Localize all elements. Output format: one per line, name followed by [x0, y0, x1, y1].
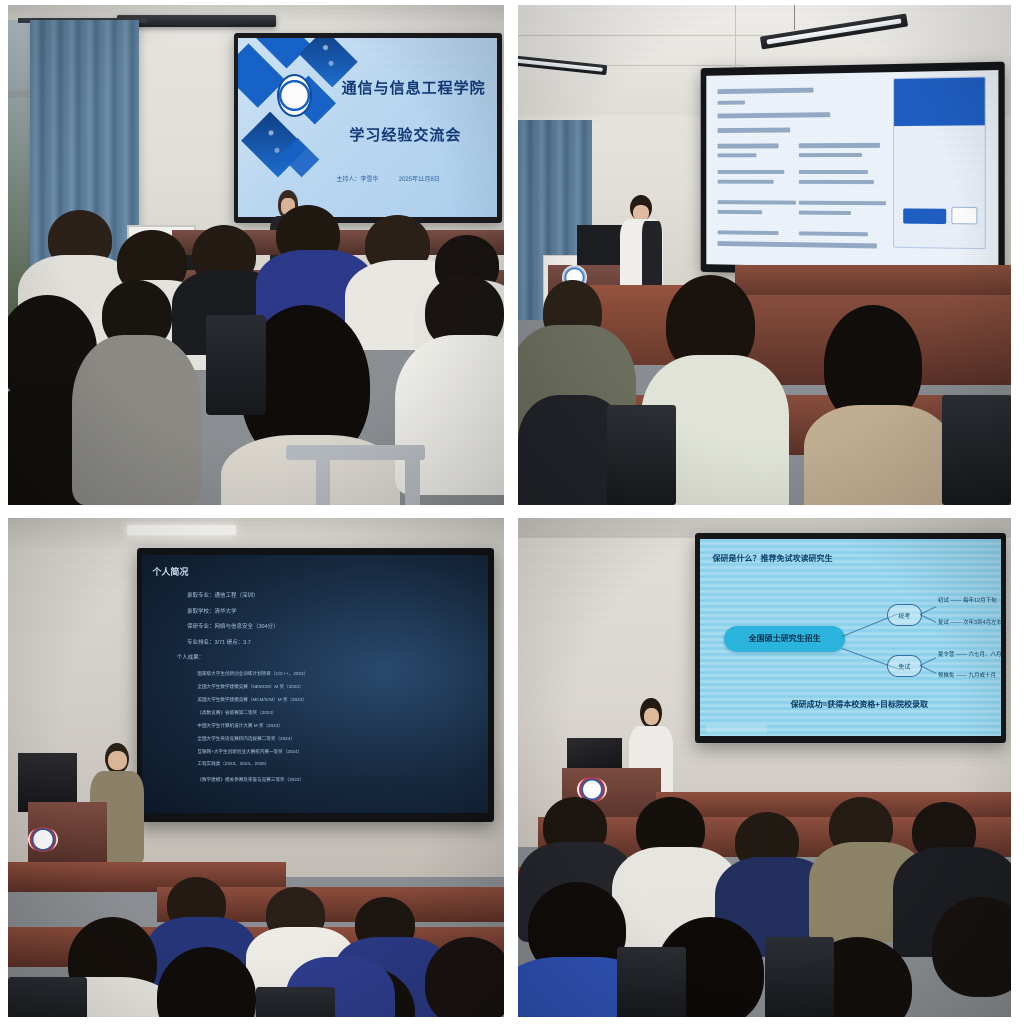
mindmap-branch-node: 统考	[887, 604, 922, 626]
chair-back	[256, 987, 335, 1017]
chair-back	[942, 395, 1011, 505]
mindmap-connector	[920, 665, 937, 674]
mindmap-leaf: 预推免 —— 九月或十月	[938, 671, 996, 679]
speaker-face	[108, 751, 127, 770]
projection-screen-frame	[701, 62, 1005, 279]
resume-row: 保研专业：网络与信息安全（304分）	[187, 622, 279, 630]
mindmap-leaf: 夏令营 —— 六七月、八月份	[938, 650, 1001, 658]
chair-frame	[316, 445, 331, 505]
resume-row: 全国大学生英语竞赛校内选拔赛二等奖（2024）	[197, 736, 295, 742]
chair-frame	[286, 445, 425, 460]
resume-row: 国家级大学生创新创业训练计划项目（C/C++，2023）	[197, 671, 308, 677]
slide-text-line	[799, 180, 874, 184]
chair-back	[765, 937, 834, 1017]
text-slide	[707, 70, 998, 269]
slide-title-line2: 学习经验交流会	[349, 124, 461, 145]
photo-top-right	[518, 5, 1011, 505]
photo-top-left: 通信与信息工程学院 学习经验交流会 主持人：李雪华 2025年11月8日	[8, 5, 504, 505]
photo-bottom-left: 个人简况 录取专业：通信工程（深圳） 录取学校：清华大学 保研专业：网络与信息安…	[8, 518, 504, 1017]
student-speaker	[617, 195, 666, 295]
slide-text-line	[718, 200, 797, 205]
slide-text-line	[799, 170, 868, 174]
projection-screen-frame: 保研是什么？推荐免试攻读研究生 全国硕士研究生招生 统考 免试 初试 —— 每年…	[695, 533, 1006, 743]
slide-text-line	[799, 201, 886, 206]
slide-text-line	[718, 241, 878, 248]
slide-text-line	[718, 153, 757, 157]
slide-dialog-screenshot	[893, 77, 986, 250]
slide-text-line	[799, 231, 868, 236]
slide-text-line	[718, 170, 785, 174]
slide-text-line	[718, 100, 746, 105]
speaker-face	[644, 708, 659, 726]
mindmap-connector	[920, 657, 937, 666]
audience-torso	[804, 405, 952, 505]
slide-text-line	[718, 112, 831, 118]
mindmap-connector	[920, 614, 937, 623]
slide-title-line1: 通信与信息工程学院	[342, 77, 486, 98]
resume-row: 录取专业：通信工程（深圳）	[187, 591, 259, 599]
resume-row: 美国大学生数学建模竞赛（MCM/ICM）M 奖（2024）	[197, 697, 307, 703]
mindmap-leaf: 复试 —— 次年3到4月左右	[938, 618, 1001, 626]
slide-text-line	[718, 87, 814, 94]
slide-taskbar	[706, 725, 766, 733]
slide-text-line	[718, 209, 763, 214]
chair-back	[206, 315, 266, 415]
projection-screen-frame: 个人简况 录取专业：通信工程（深圳） 录取学校：清华大学 保研专业：网络与信息安…	[137, 548, 494, 822]
slide-text-line	[718, 230, 779, 235]
mindmap-slide: 保研是什么？推荐免试攻读研究生 全国硕士研究生招生 统考 免试 初试 —— 每年…	[700, 539, 1001, 736]
resume-slide-title: 个人简况	[152, 565, 188, 578]
resume-row: 录取学校：清华大学	[187, 607, 237, 615]
slide-text-line	[799, 210, 851, 215]
chair-back	[8, 977, 87, 1017]
chair-back	[607, 405, 676, 505]
resume-row: 个人成果：	[177, 653, 205, 661]
chair-back	[617, 947, 686, 1017]
slide-text-line	[799, 143, 880, 148]
resume-row: 《数学建模》相关参赛及荣誉与竞赛三等奖（2023）	[197, 777, 304, 783]
dialog-secondary-button	[952, 207, 978, 225]
slide-text-line	[718, 128, 791, 133]
dialog-primary-button	[903, 209, 946, 225]
university-emblem-icon	[277, 74, 312, 117]
light-suspension-wire	[794, 5, 795, 30]
resume-row: 全国大学生数学建模竞赛（NEMCM）M 奖（2023）	[197, 684, 303, 690]
university-emblem-icon	[28, 827, 58, 852]
mindmap-branch-node: 免试	[887, 655, 922, 677]
slide-text-line	[718, 179, 774, 183]
resume-row: 专业排名：3/71 绩点：3.7	[187, 638, 251, 646]
mindmap-slide-title: 保研是什么？推荐免试攻读研究生	[712, 553, 832, 564]
mindmap-center-node: 全国硕士研究生招生	[724, 626, 844, 652]
photo-collage: 通信与信息工程学院 学习经验交流会 主持人：李雪华 2025年11月8日	[0, 0, 1024, 1024]
slide-text-line	[799, 153, 863, 157]
resume-row: 中国大学生计算机设计大赛 M 奖（2024）	[197, 723, 283, 729]
mindmap-footer: 保研成功=获得本校资格+目标院校录取	[791, 699, 928, 710]
ceiling-light-icon	[127, 525, 236, 535]
audience-torso	[72, 335, 201, 505]
chair-frame	[405, 445, 420, 505]
audience-head	[932, 897, 1011, 997]
slide-host-label: 主持人：李雪华	[336, 174, 378, 183]
ceiling-seam	[735, 5, 736, 75]
speaker-vest	[642, 221, 662, 295]
slide-date-label: 2025年11月8日	[399, 174, 440, 183]
mindmap-connector	[920, 606, 937, 615]
photo-bottom-right: 保研是什么？推荐免试攻读研究生 全国硕士研究生招生 统考 免试 初试 —— 每年…	[518, 518, 1011, 1017]
resume-row: 《高数竞赛》省级赛第二等奖（2024）	[197, 710, 276, 716]
resume-row: 互联网+大学生创新创业大赛校内赛一等奖（2024）	[197, 749, 302, 755]
mindmap-leaf: 初试 —— 每年12月下旬	[938, 596, 997, 604]
ceiling	[8, 518, 504, 548]
resume-slide: 个人简况 录取专业：通信工程（深圳） 录取学校：清华大学 保研专业：网络与信息安…	[142, 555, 488, 813]
resume-row: 工程实践类（2023、2024、2025）	[197, 761, 269, 767]
slide-text-line	[718, 143, 779, 148]
